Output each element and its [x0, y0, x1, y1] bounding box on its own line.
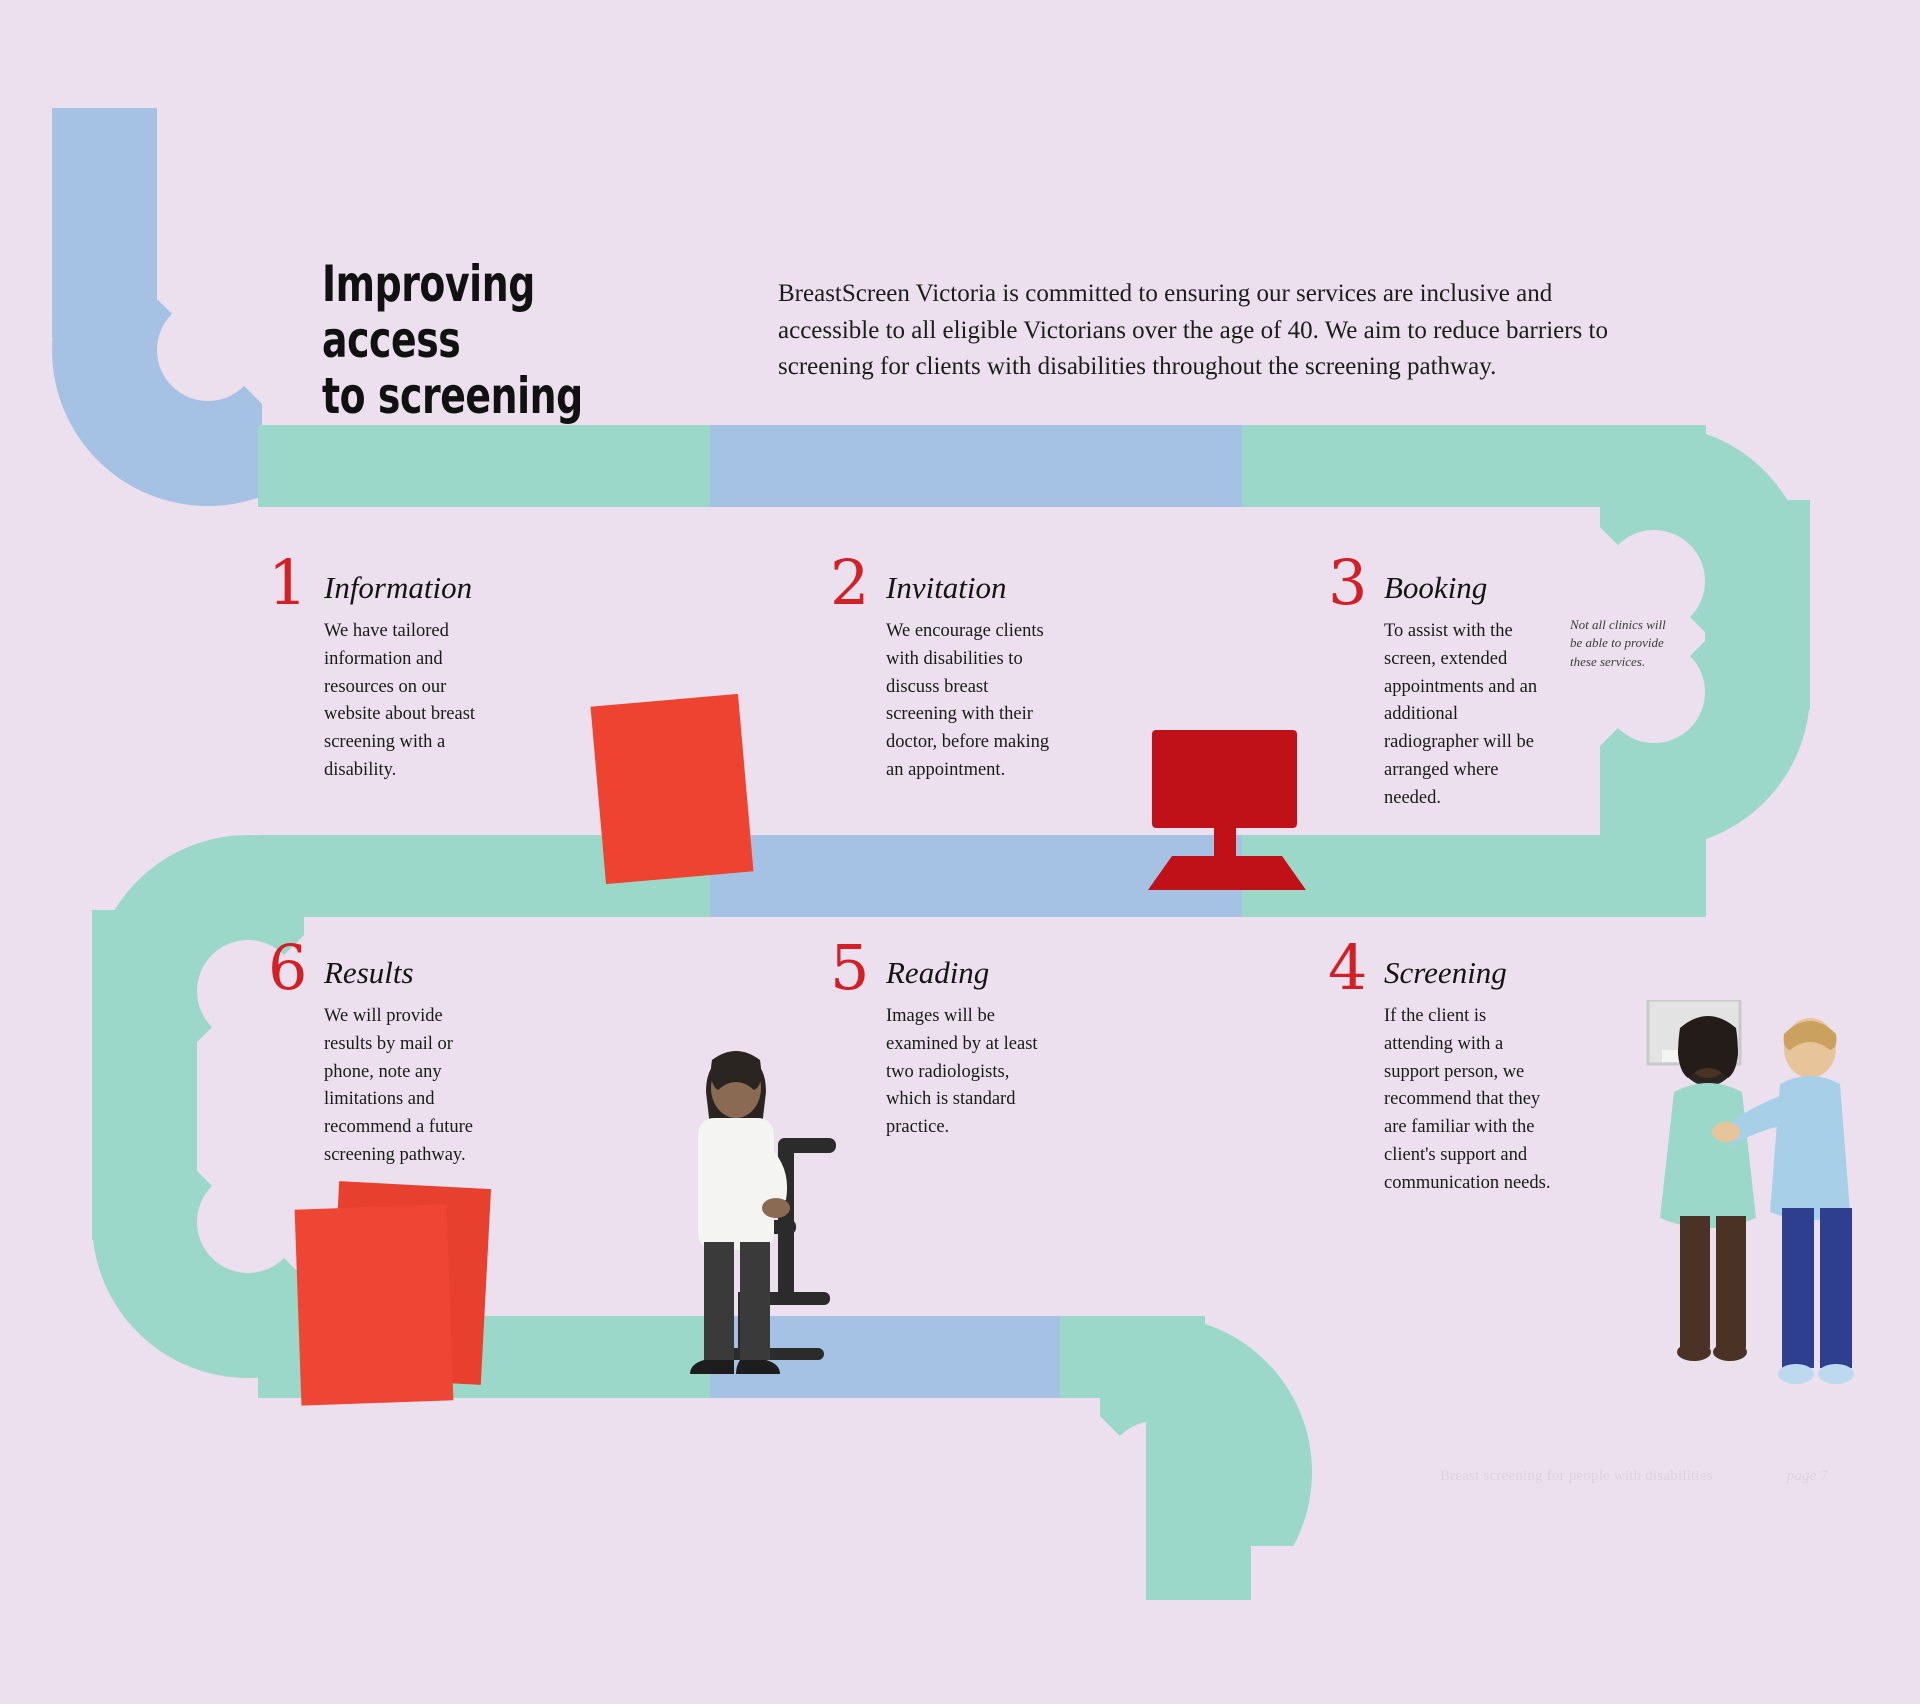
intro-paragraph: BreastScreen Victoria is committed to en…: [778, 276, 1618, 386]
step-title: Invitation: [886, 570, 1007, 606]
path-corner-top-left: [52, 300, 262, 508]
page-title-line-1: Improving access: [322, 256, 675, 368]
step-body: We will provide results by mail or phone…: [324, 1003, 492, 1170]
tilted-red-document-illustration: [598, 700, 748, 880]
step-title: Results: [324, 955, 414, 991]
step-title: Booking: [1384, 570, 1487, 606]
desktop-computer-illustration: [1130, 730, 1330, 920]
path-corner-row2-right: [1600, 640, 1810, 866]
doctor-and-seated-client-illustration: [660, 1030, 920, 1420]
footer-caption: Breast screening for people with disabil…: [1440, 1468, 1713, 1484]
step-number: 3: [1328, 552, 1367, 614]
step-title: Screening: [1384, 955, 1507, 991]
doctor-patient-figure: [660, 1030, 920, 1420]
step-title: Information: [324, 570, 472, 606]
stacked-red-documents-illustration: [278, 1185, 528, 1415]
step-3-clinic-availability-note: Not all clinics will be able to provide …: [1570, 616, 1676, 671]
step-number: 1: [268, 552, 307, 614]
step-number: 2: [830, 552, 869, 614]
page-title-line-2: to screening: [322, 368, 675, 424]
computer-icon: [1130, 730, 1330, 920]
path-segment-row1-blue-mid: [710, 425, 1242, 507]
doctor-figure: [690, 1051, 790, 1374]
step-body: We encourage clients with disabilities t…: [886, 618, 1054, 785]
step-body: To assist with the screen, extended appo…: [1384, 618, 1552, 812]
path-segment-end-vertical: [1146, 1390, 1251, 1600]
red-document-sheet-front: [295, 1204, 454, 1405]
red-document-sheet: [591, 694, 754, 884]
path-segment-row1-mint-left: [258, 425, 710, 507]
step-title: Reading: [886, 955, 989, 991]
page-footer: Breast screening for people with disabil…: [1440, 1468, 1828, 1485]
step-body: If the client is attending with a suppor…: [1384, 1003, 1552, 1197]
step-body: Images will be examined by at least two …: [886, 1003, 1054, 1142]
client-figure: [1660, 1016, 1756, 1361]
screening-scene-figure: [1630, 1000, 1900, 1460]
step-number: 6: [268, 937, 307, 999]
radiographer-and-client-illustration: [1630, 1000, 1900, 1460]
page-title: Improving access to screening: [322, 256, 675, 424]
infographic-canvas: Improving access to screening BreastScre…: [0, 0, 1920, 1704]
step-number: 5: [830, 937, 869, 999]
footer-page-number: page 7: [1787, 1468, 1829, 1484]
step-number: 4: [1328, 937, 1367, 999]
step-body: We have tailored information and resourc…: [324, 618, 492, 785]
